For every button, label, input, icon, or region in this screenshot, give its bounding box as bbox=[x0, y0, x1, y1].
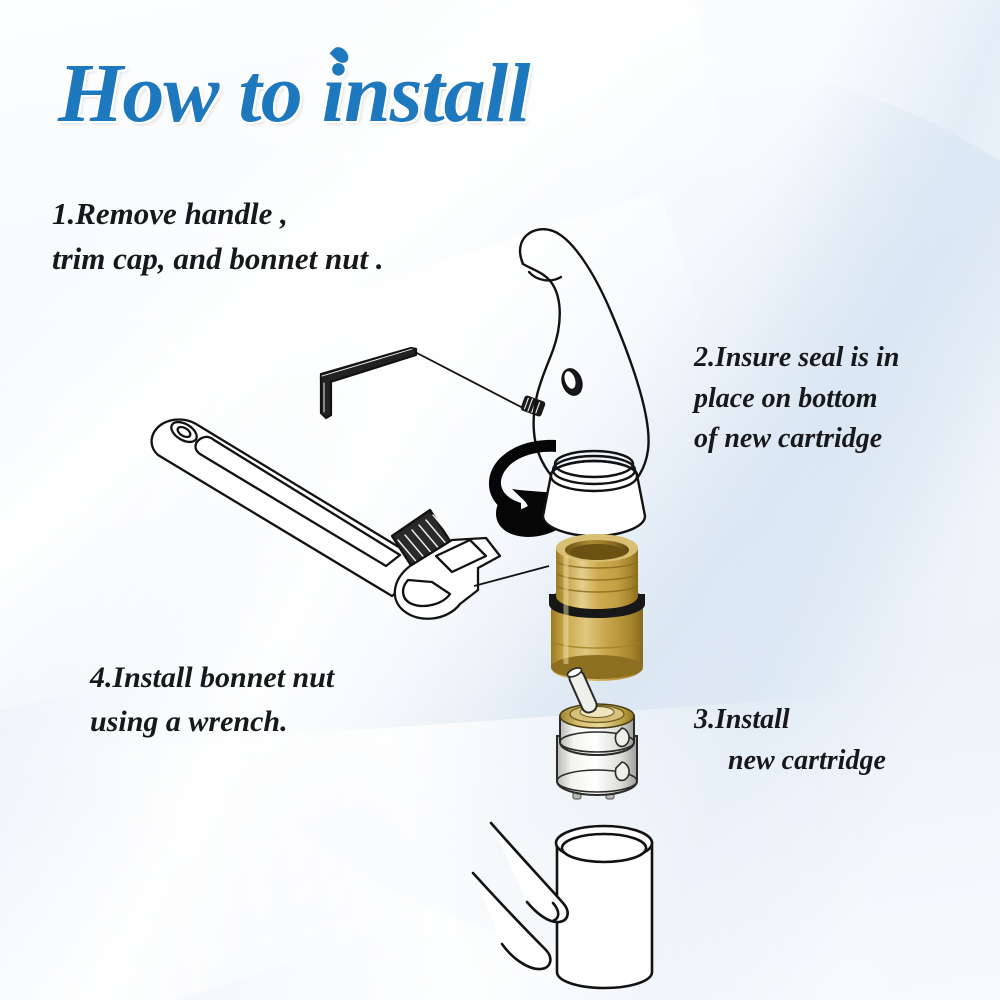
step-3-caption: 3.Installnew cartridge bbox=[694, 700, 886, 781]
leader-line-handle-to-screw bbox=[415, 352, 523, 408]
faucet-cartridge bbox=[557, 666, 637, 799]
hand-holding-faucet-body bbox=[473, 823, 652, 988]
adjustable-wrench bbox=[152, 418, 500, 619]
instruction-poster: How to install bbox=[0, 0, 1000, 1000]
step-3-line-2: new cartridge bbox=[694, 741, 886, 782]
exploded-diagram-artwork bbox=[0, 0, 1000, 1000]
hex-allen-key bbox=[321, 348, 416, 418]
brass-valve-body bbox=[549, 534, 645, 681]
step-2-caption: 2.Insure seal is in place on bottom of n… bbox=[694, 338, 899, 460]
step-4-caption: 4.Install bonnet nut using a wrench. bbox=[90, 656, 334, 743]
step-3-line-1: 3.Install bbox=[694, 704, 790, 735]
leader-line-wrench-to-brass bbox=[474, 566, 549, 586]
step-1-caption: 1.Remove handle , trim cap, and bonnet n… bbox=[52, 192, 384, 282]
trim-cap-bonnet-nut bbox=[543, 451, 645, 536]
